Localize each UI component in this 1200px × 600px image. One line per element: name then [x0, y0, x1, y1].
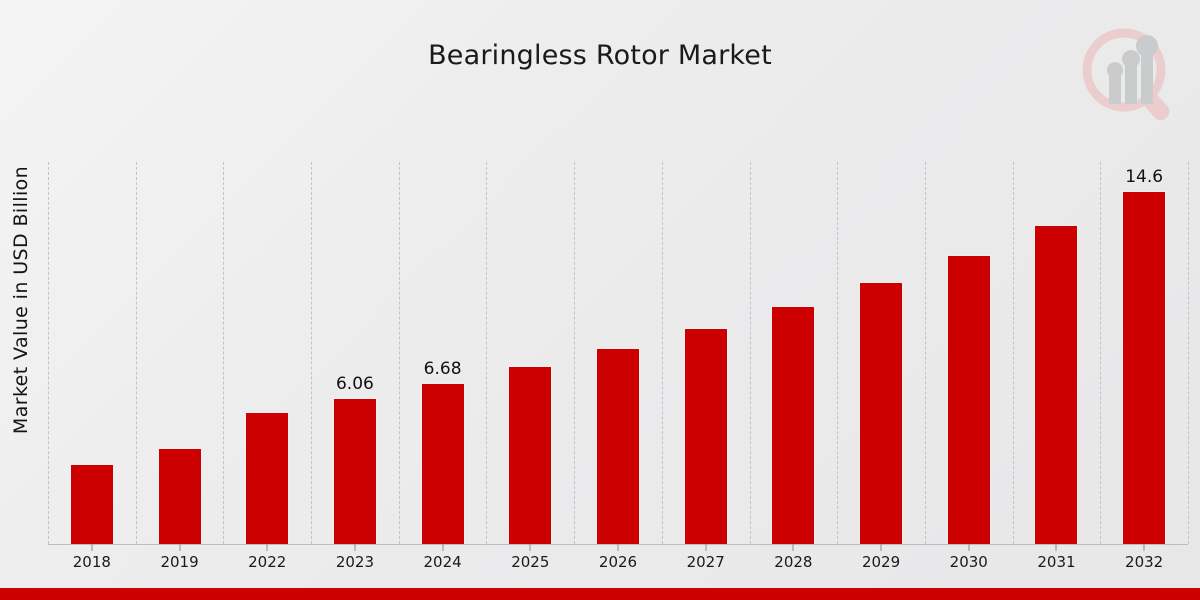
bar-group-2031[interactable]	[1013, 162, 1101, 544]
bar-2025[interactable]	[508, 366, 552, 544]
x-tick-mark-2025	[530, 544, 531, 551]
y-axis-title-label: Market Value in USD Billion	[10, 166, 32, 434]
x-tick-mark-2019	[179, 544, 180, 551]
x-tick-label-2032: 2032	[1125, 553, 1163, 571]
y-axis-title: Market Value in USD Billion	[4, 0, 38, 600]
bar-group-2019[interactable]	[136, 162, 224, 544]
x-tick-label-2029: 2029	[862, 553, 900, 571]
bar-group-2023[interactable]: 6.06	[311, 162, 399, 544]
x-axis-ticks: 2018201920222023202420252026202720282029…	[48, 544, 1188, 574]
x-tick-label-2018: 2018	[73, 553, 111, 571]
bar-value-label-2032: 14.6	[1125, 167, 1163, 187]
x-tick-mark-2028	[793, 544, 794, 551]
bar-2026[interactable]	[596, 348, 640, 544]
x-tick-mark-2022	[267, 544, 268, 551]
bar-2024[interactable]	[421, 383, 465, 545]
x-tick-mark-2032	[1144, 544, 1145, 551]
x-tick-label-2025: 2025	[511, 553, 549, 571]
x-tick-mark-2027	[705, 544, 706, 551]
bar-value-label-2024: 6.68	[424, 359, 462, 379]
bar-2027[interactable]	[684, 328, 728, 544]
bar-group-2024[interactable]: 6.68	[399, 162, 487, 544]
bar-2023[interactable]	[333, 398, 377, 545]
x-tick-label-2031: 2031	[1037, 553, 1075, 571]
bar-2031[interactable]	[1034, 225, 1078, 544]
bar-group-2028[interactable]	[750, 162, 838, 544]
bar-2022[interactable]	[245, 412, 289, 544]
x-tick-label-2026: 2026	[599, 553, 637, 571]
bar-group-2030[interactable]	[925, 162, 1013, 544]
bar-group-2027[interactable]	[662, 162, 750, 544]
bar-group-2025[interactable]	[486, 162, 574, 544]
bar-group-2029[interactable]	[837, 162, 925, 544]
bar-2032[interactable]	[1122, 191, 1166, 544]
x-tick-label-2023: 2023	[336, 553, 374, 571]
bar-group-2032[interactable]: 14.6	[1100, 162, 1188, 544]
x-tick-mark-2026	[618, 544, 619, 551]
x-tick-mark-2024	[442, 544, 443, 551]
bar-2018[interactable]	[70, 464, 114, 544]
bars-layer: 6.066.6814.6	[48, 162, 1188, 544]
grid-line	[1188, 162, 1189, 544]
bar-group-2022[interactable]	[223, 162, 311, 544]
x-tick-label-2030: 2030	[950, 553, 988, 571]
magnifier-bar-chart-logo	[1072, 22, 1182, 127]
bar-value-label-2023: 6.06	[336, 374, 374, 394]
x-tick-label-2028: 2028	[774, 553, 812, 571]
bar-group-2018[interactable]	[48, 162, 136, 544]
x-tick-mark-2031	[1056, 544, 1057, 551]
chart-figure: Bearingless Rotor Market Market Value in…	[0, 0, 1200, 600]
bar-group-2026[interactable]	[574, 162, 662, 544]
x-tick-label-2024: 2024	[424, 553, 462, 571]
x-tick-mark-2029	[881, 544, 882, 551]
x-tick-label-2019: 2019	[160, 553, 198, 571]
bar-2028[interactable]	[771, 306, 815, 544]
x-tick-mark-2023	[354, 544, 355, 551]
x-tick-mark-2030	[968, 544, 969, 551]
x-tick-label-2022: 2022	[248, 553, 286, 571]
bar-2029[interactable]	[859, 282, 903, 544]
bar-2030[interactable]	[947, 255, 991, 544]
x-tick-label-2027: 2027	[687, 553, 725, 571]
bar-2019[interactable]	[158, 448, 202, 544]
footer-band	[0, 588, 1200, 600]
chart-title: Bearingless Rotor Market	[0, 40, 1200, 71]
x-tick-mark-2018	[91, 544, 92, 551]
